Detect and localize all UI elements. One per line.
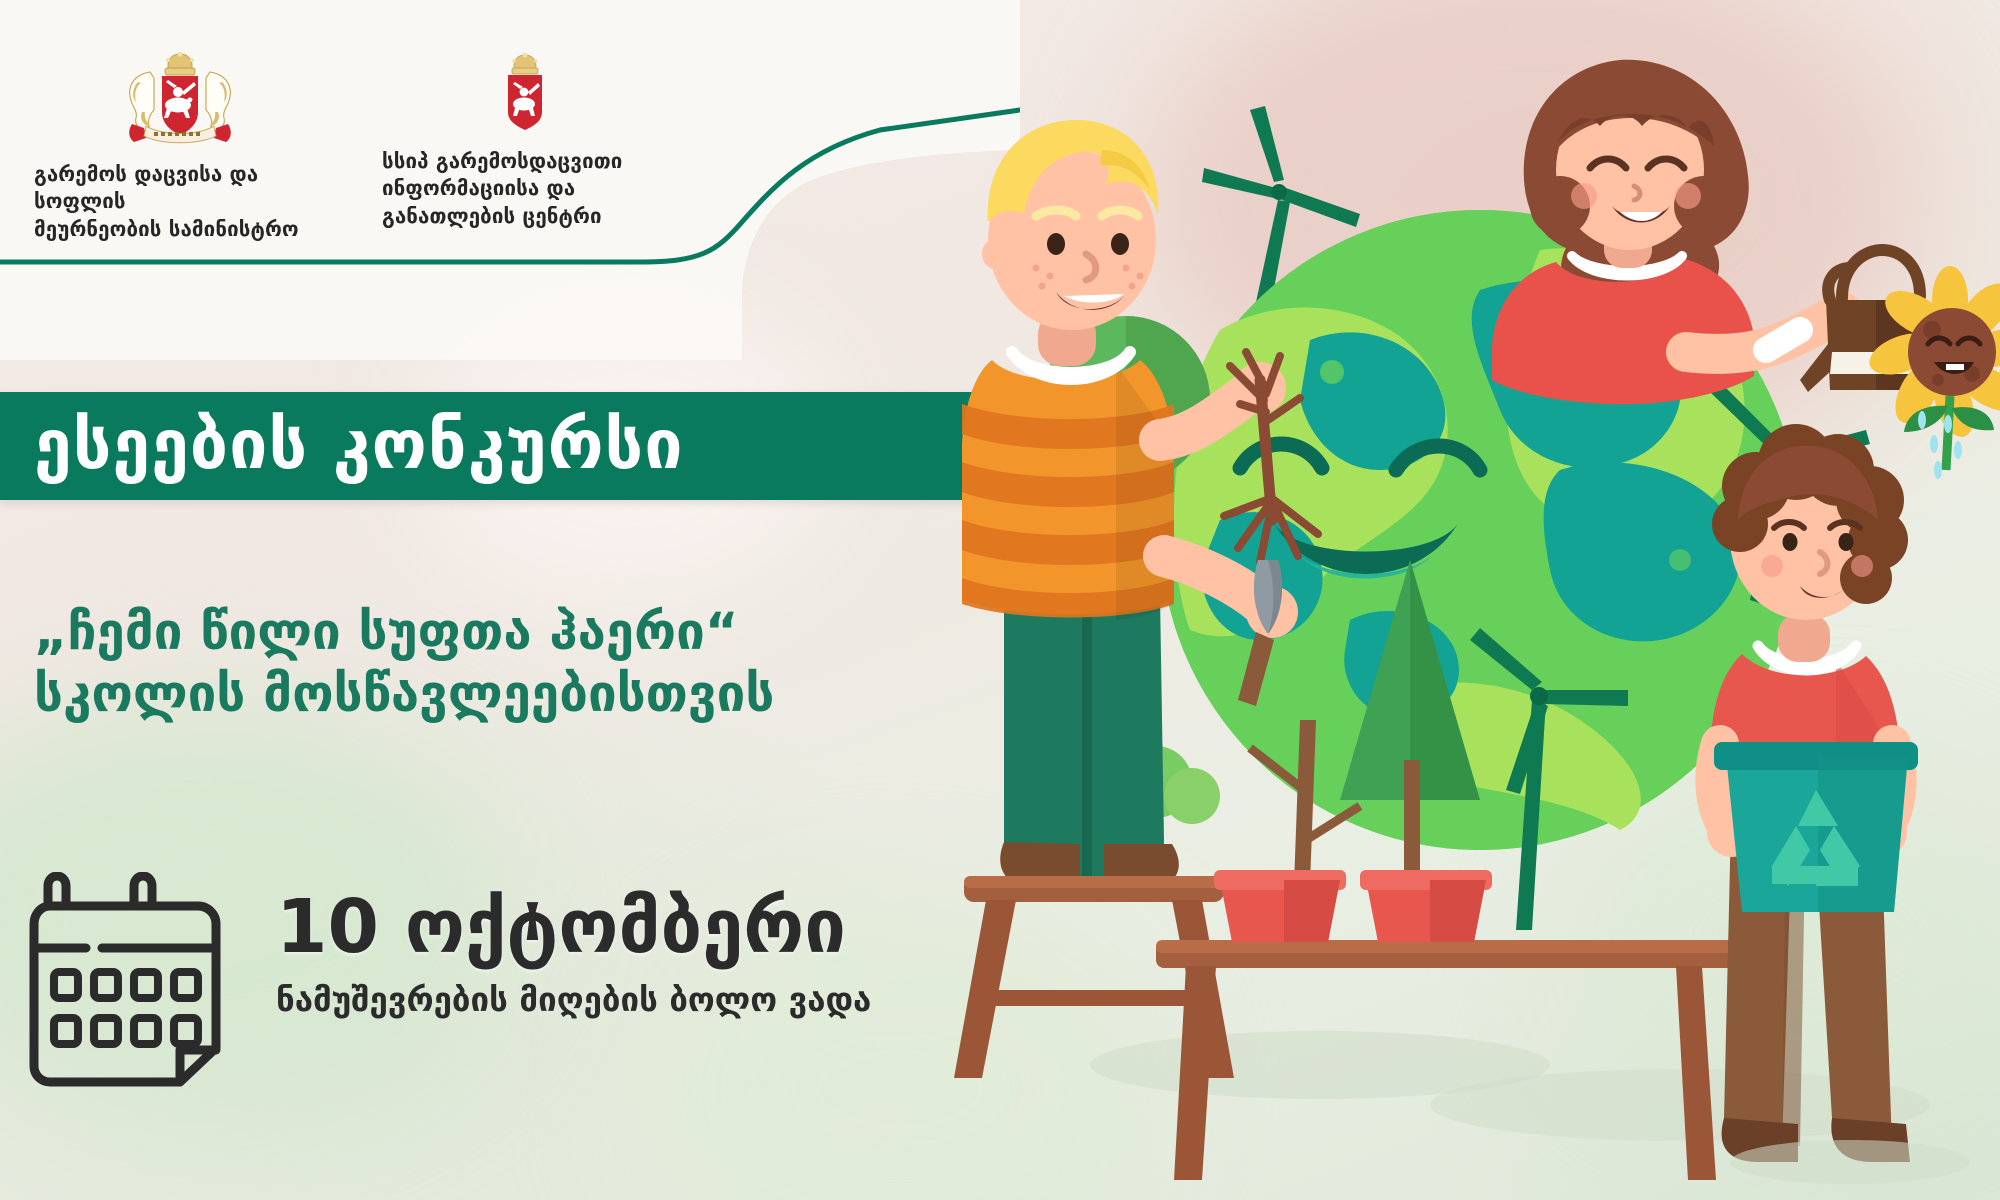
georgia-coat-of-arms-icon [120,52,240,147]
ground-shadow-boy-right [1730,1140,1970,1184]
logo-row: გარემოს დაცვისა და სოფლის მეურნეობის სამ… [0,0,900,290]
deadline-date: 10 ოქტომბერი [276,890,871,964]
recycling-bin [1714,742,1918,912]
page-title: ესეების კონკურსი [0,412,684,480]
deadline-caption: ნამუშევრების მიღების ბოლო ვადა [276,980,871,1019]
center-logo-caption: სსიპ გარემოსდაცვითი ინფორმაციისა და განა… [382,148,670,230]
center-caption-line-2: ინფორმაციისა და [382,175,670,202]
poster-canvas: გარემოს დაცვისა და სოფლის მეურნეობის სამ… [0,0,2000,1200]
center-logo: სსიპ გარემოსდაცვითი ინფორმაციისა და განა… [380,52,670,230]
potted-sapling-left [1214,870,1346,942]
center-caption-line-3: განათლების ცენტრი [382,203,670,230]
ministry-logo-caption: გარემოს დაცვისა და სოფლის მეურნეობის სამ… [34,161,330,243]
ministry-caption-line-2: მეურნეობის სამინისტრო [34,216,330,243]
sunflower-smiling-face [1864,266,2000,479]
girl-red-shirt-watering-sunflower [1492,60,1842,405]
deadline-texts: 10 ოქტომბერი ნამუშევრების მიღების ბოლო ვ… [276,872,871,1019]
ministry-caption-line-1: გარემოს დაცვისა და სოფლის [34,161,330,216]
potted-pine-right [1360,870,1492,942]
center-caption-line-1: სსიპ გარემოსდაცვითი [382,148,670,175]
calendar-icon [28,872,238,1087]
georgia-shield-crest-icon [494,52,556,134]
children-planting-earth-illustration [920,0,2000,1200]
ministry-logo: გარემოს დაცვისა და სოფლის მეურნეობის სამ… [30,52,330,243]
deadline-block: 10 ოქტომბერი ნამუშევრების მიღების ბოლო ვ… [28,872,871,1087]
